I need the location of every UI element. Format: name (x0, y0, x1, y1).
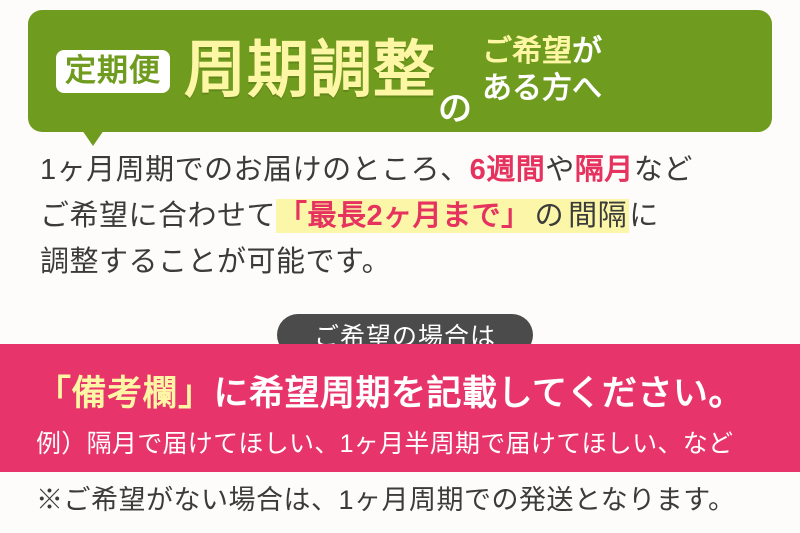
banner-pointer (82, 130, 104, 146)
body-line1-part-e: など (634, 154, 693, 186)
footer-note: ※ご希望がない場合は、1ヶ月周期での発送となります。 (36, 478, 776, 517)
body-line-1: 1ヶ月周期でのお届けのところ、6週間や隔月など (40, 148, 770, 194)
body-line2-emph-interval: 間隔 (566, 199, 629, 233)
body-line-3: 調整することが可能です。 (40, 240, 770, 286)
headline-subtext-tail: が (572, 35, 602, 68)
headline-title: 周期調整 (184, 40, 436, 102)
pink-callout-remarks-field: 「備考欄」 (36, 374, 214, 413)
body-line-2: ご希望に合わせて「最長2ヶ月まで」の間隔に (40, 194, 770, 240)
body-line1-emph-6weeks: 6週間 (470, 154, 546, 186)
body-line2-part-a: ご希望に合わせて (40, 200, 276, 232)
headline-particle: の (438, 92, 472, 132)
body-line1-part-a: 1ヶ月周期でのお届けのところ、 (40, 154, 470, 186)
pink-callout-example: 例）隔月で届けてほしい、1ヶ月半周期で届けてほしい、など (36, 424, 776, 460)
promo-page: 定期便 周期調整 の ご希望が ある方へ 1ヶ月周期でのお届けのところ、6週間や… (0, 0, 800, 533)
headline-subtext: ご希望が ある方へ (482, 34, 602, 107)
body-line2-part-e: に (629, 200, 659, 232)
pink-callout-main-rest: に希望周期を記載してください。 (214, 374, 744, 413)
body-line1-emph-bimonthly: 隔月 (575, 154, 634, 186)
headline-subtext-line1: ご希望が (482, 35, 602, 68)
subscription-badge: 定期便 (56, 50, 170, 93)
body-line2-part-c: の (533, 199, 567, 233)
body-line1-part-c: や (545, 154, 575, 186)
body-paragraph: 1ヶ月周期でのお届けのところ、6週間や隔月など ご希望に合わせて「最長2ヶ月まで… (40, 148, 770, 285)
header-banner: 定期便 周期調整 の ご希望が ある方へ (28, 10, 772, 132)
headline-subtext-highlight: ご希望 (482, 35, 572, 68)
body-line2-emph-max2months: 「最長2ヶ月まで」 (276, 199, 533, 233)
pink-callout-main: 「備考欄」に希望周期を記載してください。 (36, 365, 776, 416)
headline-subtext-line2: ある方へ (482, 72, 602, 105)
